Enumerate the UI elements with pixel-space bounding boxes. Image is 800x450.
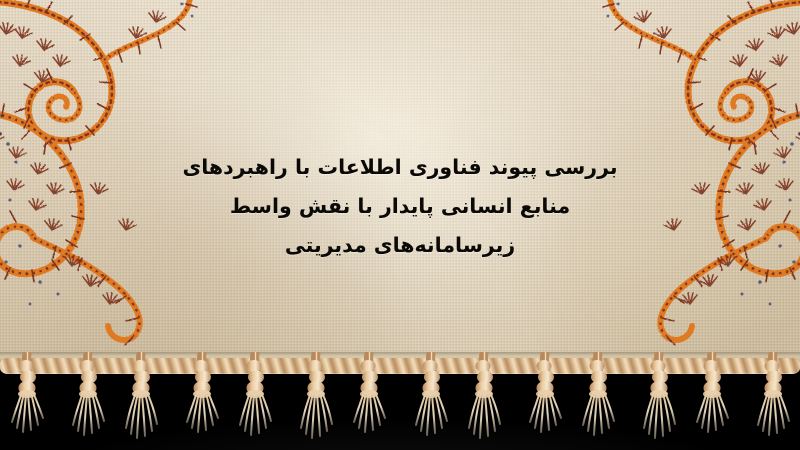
tassel bbox=[637, 352, 681, 448]
tassel bbox=[347, 352, 391, 448]
tassel bbox=[523, 352, 567, 448]
tassel bbox=[180, 352, 224, 448]
tassel bbox=[462, 352, 506, 448]
tassel bbox=[66, 352, 110, 448]
tassel-fringe bbox=[0, 352, 800, 450]
slide-title: بررسی پیوند فناوری اطلاعات با راهبردهای … bbox=[150, 148, 650, 265]
tassel bbox=[119, 352, 163, 448]
title-line-2: منابع انسانی پایدار با نقش واسط bbox=[150, 187, 650, 226]
title-line-1: بررسی پیوند فناوری اطلاعات با راهبردهای bbox=[150, 148, 650, 187]
tassel bbox=[233, 352, 277, 448]
tassel bbox=[576, 352, 620, 448]
title-line-3: زیرسامانه‌های مدیریتی bbox=[150, 226, 650, 265]
tassel bbox=[690, 352, 734, 448]
title-slide: بررسی پیوند فناوری اطلاعات با راهبردهای … bbox=[0, 0, 800, 450]
tassel bbox=[409, 352, 453, 448]
tassel bbox=[5, 352, 49, 448]
tassel bbox=[294, 352, 338, 448]
tassel bbox=[751, 352, 795, 448]
